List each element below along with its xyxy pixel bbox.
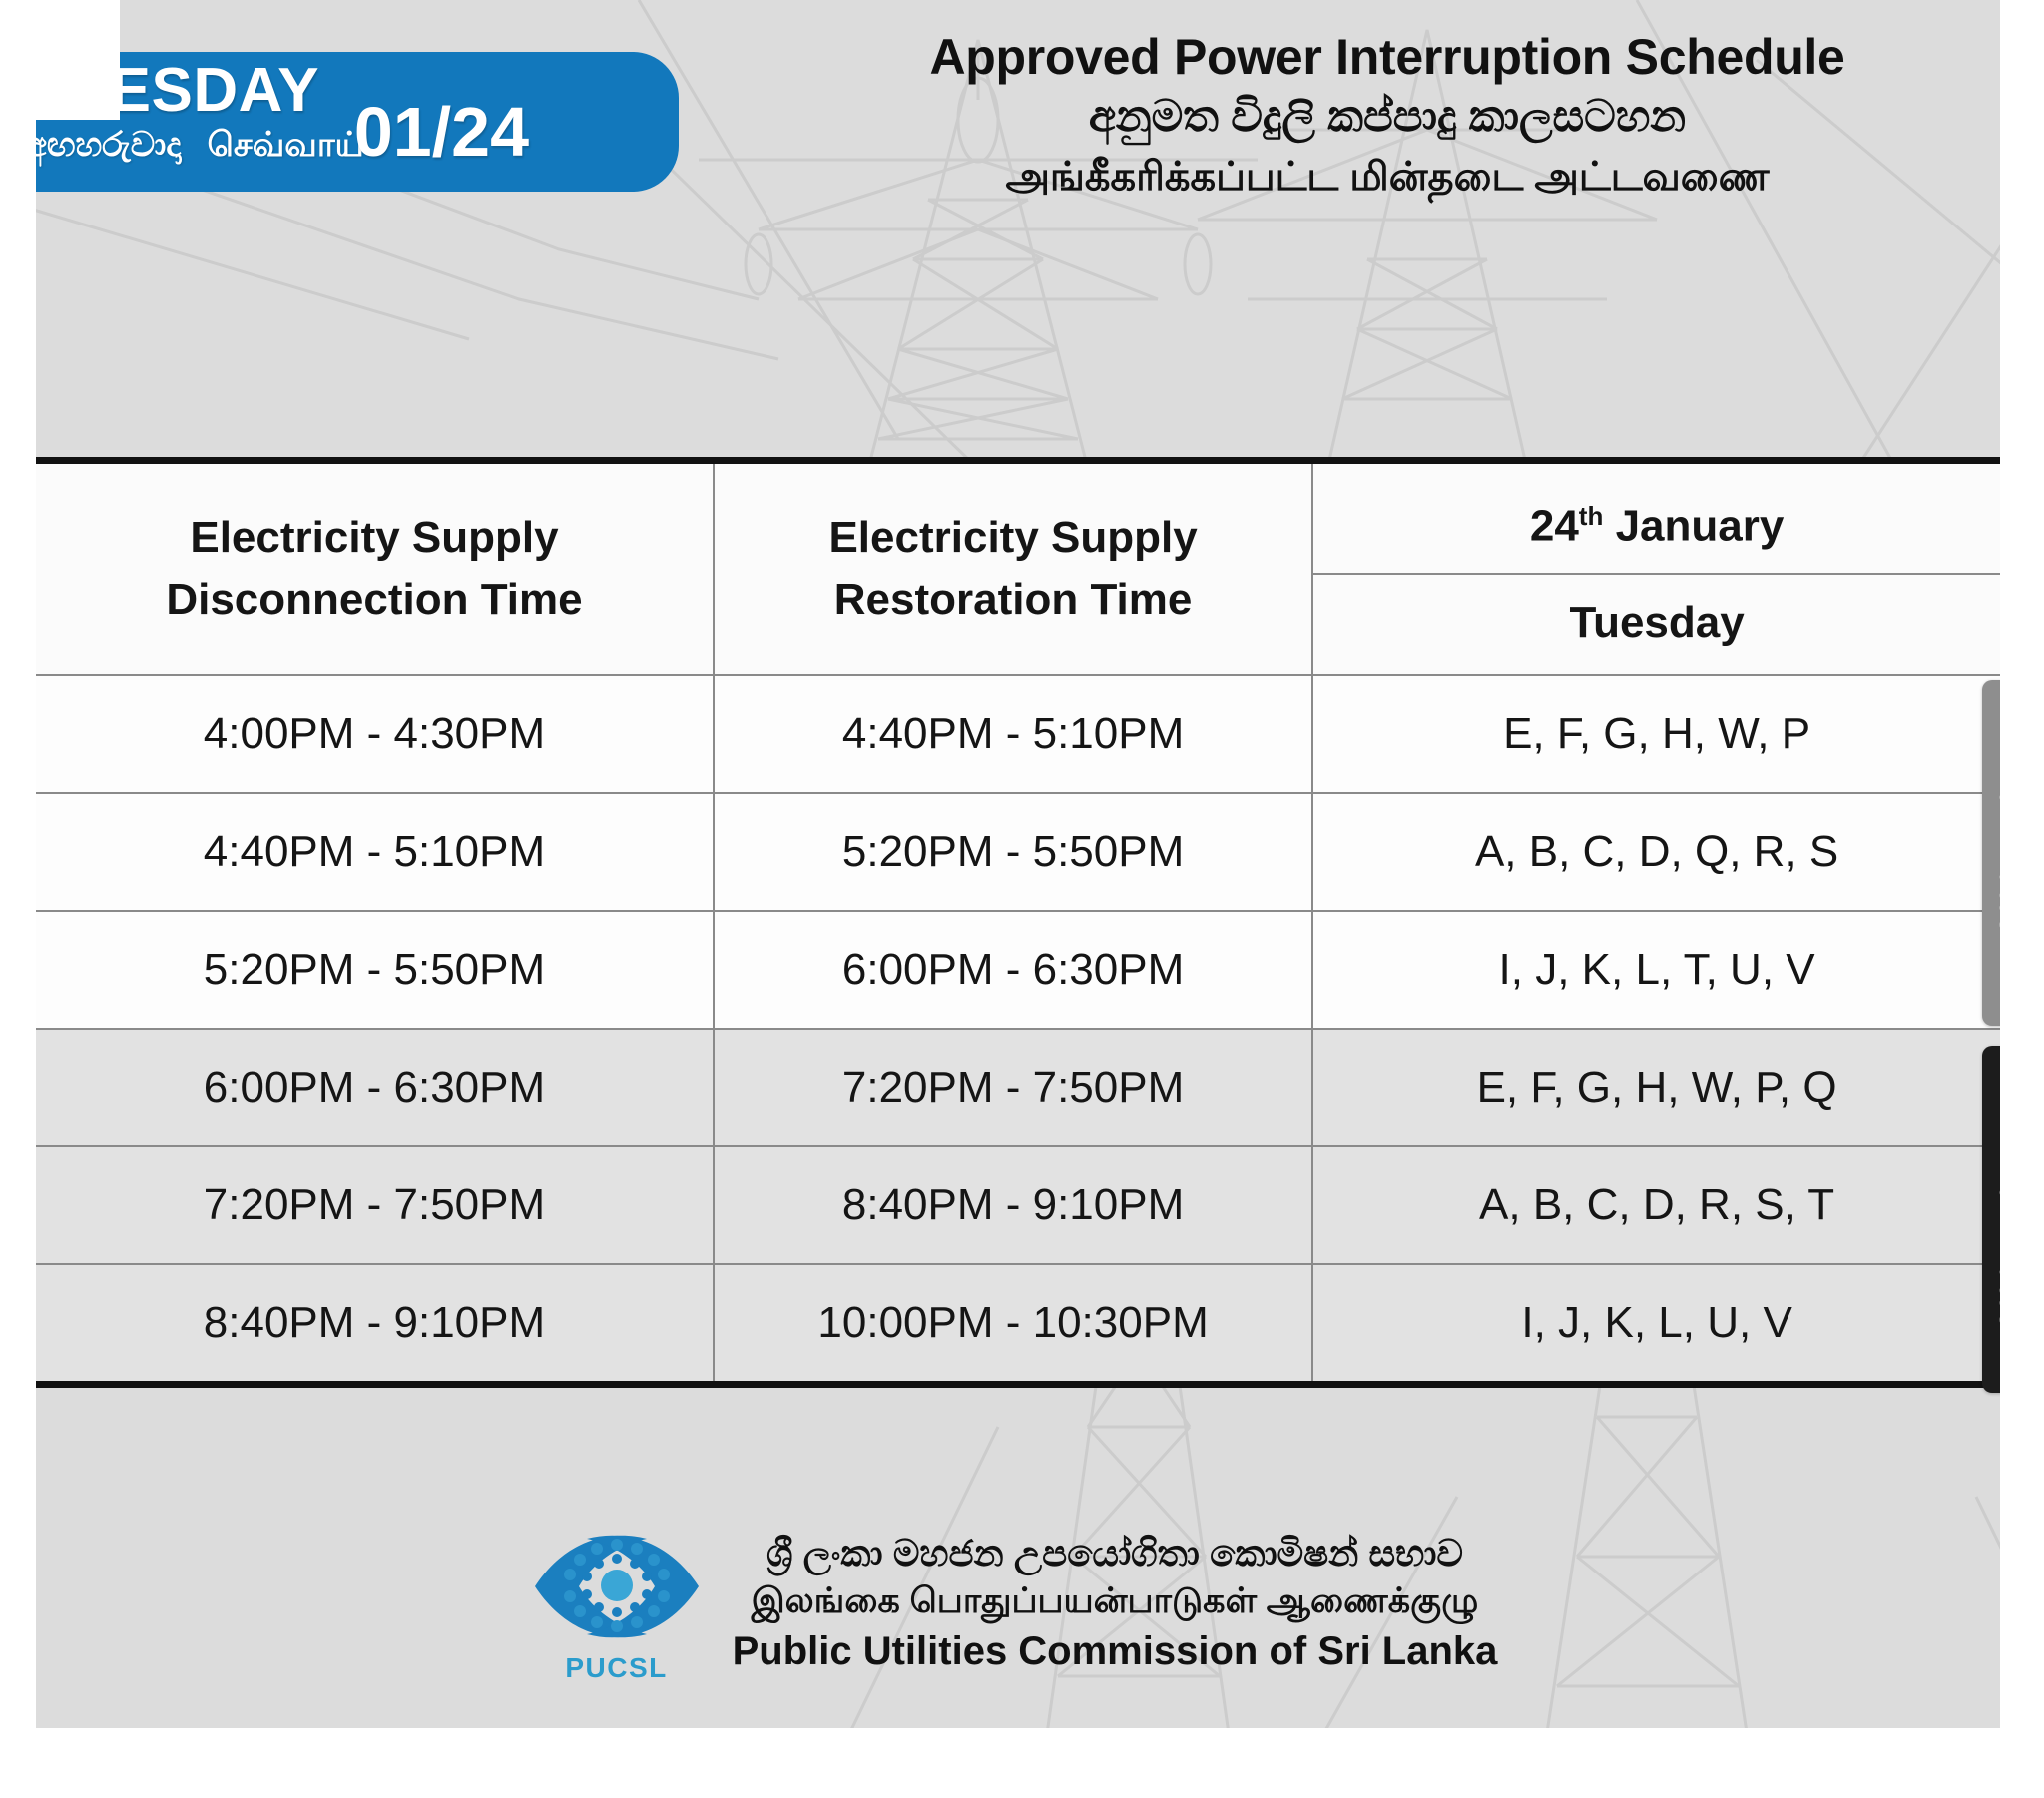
table-row: 4:00PM - 4:30PM 4:40PM - 5:10PM E, F, G,… <box>36 675 2000 793</box>
column-header-date: 24th January Tuesday <box>1312 464 2000 675</box>
poster: TUESDAY අඟහරුවාදාசெவ்வாய் 01/24 Approved… <box>0 0 2044 1798</box>
cell-disconnection-time: 8:40PM - 9:10PM <box>36 1264 714 1381</box>
column-header-weekday: Tuesday <box>1313 575 2000 674</box>
footer-inner: PUCSL ශ්‍රී ලංකා මහජන උපයෝගිතා කොමිෂන් ස… <box>527 1523 1498 1684</box>
page-title-en: Approved Power Interruption Schedule <box>818 28 1956 86</box>
day-badge-day-en: TUESDAY <box>26 58 653 124</box>
schedule-table-body: 4:00PM - 4:30PM 4:40PM - 5:10PM E, F, G,… <box>36 675 2000 1381</box>
cell-groups: A, B, C, D, Q, R, S <box>1312 793 2000 911</box>
column-header-date-ordinal: th <box>1579 501 1604 531</box>
schedule-table: Electricity Supply Disconnection Time El… <box>36 464 2000 1381</box>
page-margin-left <box>0 0 36 1798</box>
cell-groups: E, F, G, H, W, P <box>1312 675 2000 793</box>
table-header-row: Electricity Supply Disconnection Time El… <box>36 464 2000 675</box>
column-header-date-month: January <box>1616 502 1785 551</box>
cell-groups: I, J, K, L, T, U, V <box>1312 911 2000 1029</box>
table-row: 5:20PM - 5:50PM 6:00PM - 6:30PM I, J, K,… <box>36 911 2000 1029</box>
cell-restoration-time: 6:00PM - 6:30PM <box>714 911 1312 1029</box>
cell-restoration-time: 4:40PM - 5:10PM <box>714 675 1312 793</box>
cell-groups: E, F, G, H, W, P, Q <box>1312 1029 2000 1146</box>
column-header-date-day: 24 <box>1530 502 1579 551</box>
page-title-si: අනුමත විදුලි කප්පාදු කාලසටහන <box>818 86 1956 148</box>
cell-disconnection-time: 6:00PM - 6:30PM <box>36 1029 714 1146</box>
cell-disconnection-time: 4:40PM - 5:10PM <box>36 793 714 911</box>
cell-disconnection-time: 7:20PM - 7:50PM <box>36 1146 714 1264</box>
column-header-restoration-line2: Restoration Time <box>715 569 1311 631</box>
column-header-date-line: 24th January <box>1313 464 2000 575</box>
organization-name-en: Public Utilities Commission of Sri Lanka <box>733 1625 1498 1677</box>
organization-name-ta: இலங்கை பொதுப்பயன்பாடுகள் ஆணைக்குழு <box>733 1577 1498 1625</box>
page-corner-fold <box>0 0 120 120</box>
pucsl-logo: PUCSL <box>527 1523 707 1684</box>
table-row: 7:20PM - 7:50PM 8:40PM - 9:10PM A, B, C,… <box>36 1146 2000 1264</box>
cell-restoration-time: 8:40PM - 9:10PM <box>714 1146 1312 1264</box>
column-header-disconnection-time: Electricity Supply Disconnection Time <box>36 464 714 675</box>
day-badge-day-si: අඟහරුවාදා <box>26 126 181 164</box>
pucsl-eye-logo-icon <box>527 1523 707 1650</box>
day-badge-day-local: අඟහරුවාදාசெவ்வாய் <box>26 124 653 166</box>
cell-restoration-time: 10:00PM - 10:30PM <box>714 1264 1312 1381</box>
day-badge-date-code: 01/24 <box>354 96 529 168</box>
pucsl-logo-label: PUCSL <box>565 1652 667 1684</box>
column-header-restoration-time: Electricity Supply Restoration Time <box>714 464 1312 675</box>
table-row: 6:00PM - 6:30PM 7:20PM - 7:50PM E, F, G,… <box>36 1029 2000 1146</box>
column-header-disconnection-line1: Electricity Supply <box>190 513 558 562</box>
page-margin-right <box>2000 0 2044 1798</box>
header-title-block: Approved Power Interruption Schedule අනු… <box>818 28 1956 206</box>
cell-groups: A, B, C, D, R, S, T <box>1312 1146 2000 1264</box>
cell-restoration-time: 7:20PM - 7:50PM <box>714 1029 1312 1146</box>
table-row: 8:40PM - 9:10PM 10:00PM - 10:30PM I, J, … <box>36 1264 2000 1381</box>
cell-disconnection-time: 4:00PM - 4:30PM <box>36 675 714 793</box>
footer: PUCSL ශ්‍රී ලංකා මහජන උපයෝගිතා කොමිෂන් ස… <box>0 1479 2044 1728</box>
organization-name-si: ශ්‍රී ලංකා මහජන උපයෝගිතා කොමිෂන් සභාව <box>733 1530 1498 1577</box>
schedule-table-card: Electricity Supply Disconnection Time El… <box>36 457 2000 1388</box>
cell-disconnection-time: 5:20PM - 5:50PM <box>36 911 714 1029</box>
cell-groups: I, J, K, L, U, V <box>1312 1264 2000 1381</box>
page-title-ta: அங்கீகரிக்கப்பட்ட மின்தடை அட்டவணை <box>818 148 1956 206</box>
day-badge-day-ta: செவ்வாய் <box>207 126 363 164</box>
column-header-restoration-line1: Electricity Supply <box>828 513 1197 562</box>
column-header-disconnection-line2: Disconnection Time <box>36 569 713 631</box>
organization-names: ශ්‍රී ලංකා මහජන උපයෝගිතා කොමිෂන් සභාව இல… <box>733 1530 1498 1677</box>
cell-restoration-time: 5:20PM - 5:50PM <box>714 793 1312 911</box>
table-row: 4:40PM - 5:10PM 5:20PM - 5:50PM A, B, C,… <box>36 793 2000 911</box>
page-margin-bottom <box>0 1728 2044 1798</box>
